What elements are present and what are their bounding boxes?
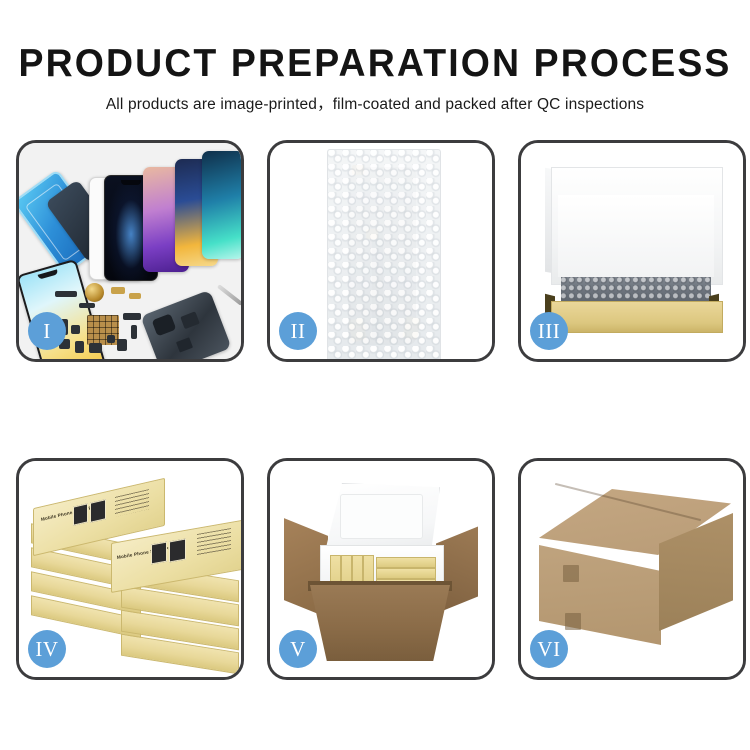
box-screen-swatch-2 [90,499,106,523]
page-header: PRODUCT PREPARATION PROCESS All products… [0,0,750,114]
process-step-card-3[interactable]: III [518,140,746,362]
chip-part-3 [129,293,141,299]
process-step-card-1[interactable]: I [16,140,244,362]
step-badge-2: II [279,312,317,350]
process-step-card-4[interactable]: Mobile Phone Spare Parts Mobile Phone Sp… [16,458,244,680]
bubble-wrap-layer-graphic [561,277,711,303]
process-step-card-6[interactable]: VI [518,458,746,680]
chip-part-10 [89,343,102,353]
carton-body-graphic [310,585,450,661]
box-screen-swatch-1 [73,503,88,525]
carton-front-face [539,545,661,645]
foam-cooler-lid-graphic [326,483,440,553]
chip-part-6 [123,313,141,320]
process-step-grid: I II III [16,140,734,680]
bubble-bag-graphic [327,149,441,359]
foam-sheet-graphic [558,195,714,277]
step-badge-6: VI [530,630,568,668]
inner-box-5 [376,557,436,568]
chip-part-5 [71,325,80,334]
step-badge-4: IV [28,630,66,668]
carton-handle-tab-bottom [565,613,581,630]
chip-part-13 [79,303,95,308]
box-screen-swatch-4 [169,539,186,563]
page-subtitle: All products are image-printed，film-coat… [0,86,750,114]
step-badge-1: I [28,312,66,350]
process-step-card-2[interactable]: II [267,140,495,362]
chip-part-12 [117,339,127,351]
speaker-coil-graphic [85,283,104,302]
chip-part-11 [107,335,115,343]
step-badge-5: V [279,630,317,668]
chip-part-2 [111,287,125,294]
carton-handle-tab-top [563,565,579,582]
tweezers-graphic [217,284,241,306]
phone-teal-graphic [202,151,241,259]
process-step-card-5[interactable]: V [267,458,495,680]
chip-part-9 [75,341,84,353]
chip-part-7 [131,325,137,339]
box-screen-swatch-3 [151,542,167,565]
yellow-box-tray-graphic [551,301,723,333]
inner-box-6 [376,568,436,579]
page-title: PRODUCT PREPARATION PROCESS [15,0,735,86]
phone-housing-graphic [140,290,231,359]
step-badge-3: III [530,312,568,350]
chip-part-1 [55,291,77,297]
